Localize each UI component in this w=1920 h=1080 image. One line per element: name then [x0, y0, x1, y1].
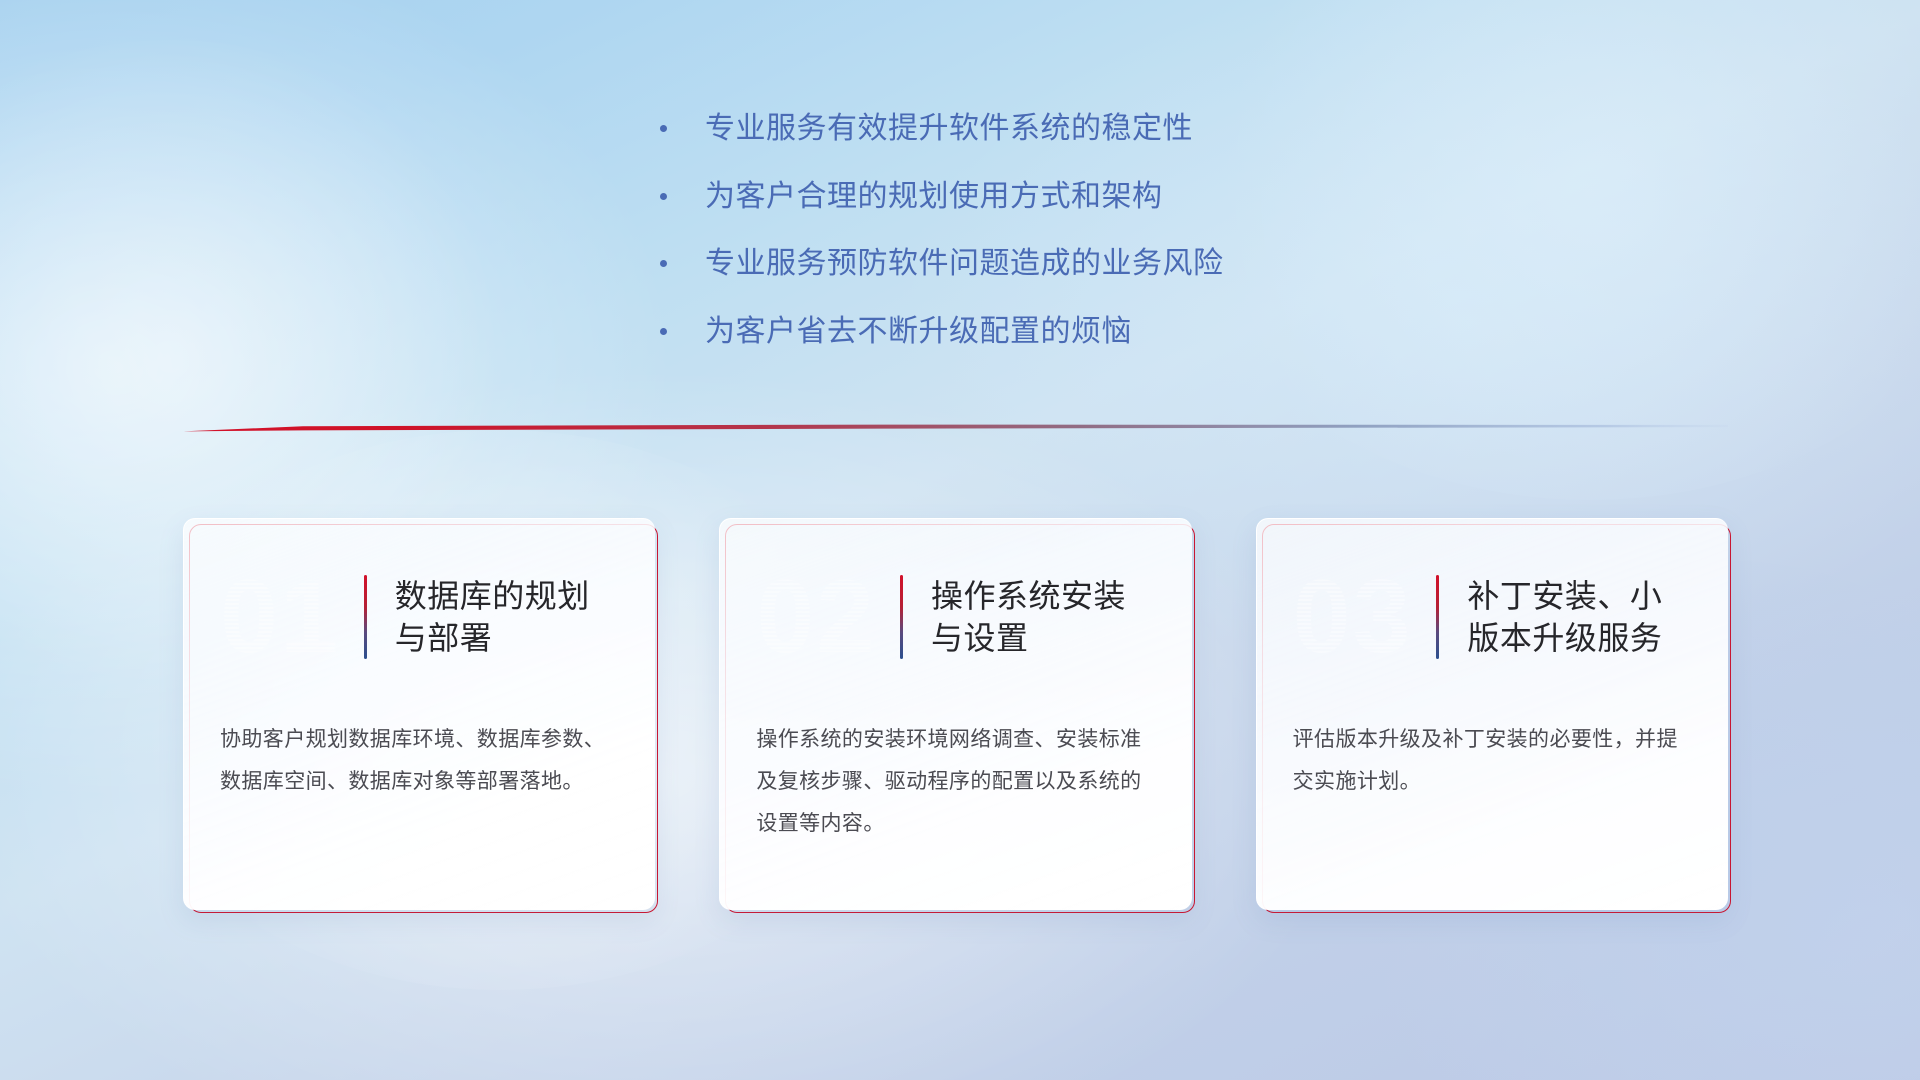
- card-title: 数据库的规划与部署: [395, 575, 620, 659]
- card-header: 02 操作系统安装与设置: [756, 553, 1155, 681]
- card-accent-divider: [1436, 575, 1439, 659]
- list-item: 专业服务预防软件问题造成的业务风险: [660, 245, 1560, 283]
- card-surface: 03 补丁安装、小版本升级服务 评估版本升级及补丁安装的必要性，并提交实施计划。: [1256, 518, 1728, 910]
- bullet-dot-icon: [660, 193, 667, 200]
- bullet-dot-icon: [660, 328, 667, 335]
- bullet-dot-icon: [660, 260, 667, 267]
- card-header: 03 补丁安装、小版本升级服务: [1293, 553, 1692, 681]
- slide-canvas: 专业服务有效提升软件系统的稳定性 为客户合理的规划使用方式和架构 专业服务预防软…: [0, 0, 1920, 1080]
- tapered-rule-icon: [183, 418, 1728, 438]
- section-divider: [183, 418, 1728, 438]
- card-description: 评估版本升级及补丁安装的必要性，并提交实施计划。: [1293, 719, 1692, 803]
- card-surface: 01 数据库的规划与部署 协助客户规划数据库环境、数据库参数、数据库空间、数据库…: [183, 518, 655, 910]
- bullet-text: 为客户合理的规划使用方式和架构: [705, 178, 1163, 216]
- bullet-text: 专业服务预防软件问题造成的业务风险: [705, 245, 1224, 283]
- card-number-watermark: 03: [1293, 565, 1413, 669]
- list-item: 为客户合理的规划使用方式和架构: [660, 178, 1560, 216]
- card-description: 操作系统的安装环境网络调查、安装标准及复核步骤、驱动程序的配置以及系统的设置等内…: [756, 719, 1155, 845]
- card-header: 01 数据库的规划与部署: [220, 553, 619, 681]
- service-card-03[interactable]: 03 补丁安装、小版本升级服务 评估版本升级及补丁安装的必要性，并提交实施计划。: [1256, 518, 1728, 910]
- benefits-bullet-list: 专业服务有效提升软件系统的稳定性 为客户合理的规划使用方式和架构 专业服务预防软…: [660, 110, 1560, 380]
- list-item: 专业服务有效提升软件系统的稳定性: [660, 110, 1560, 148]
- service-card-01[interactable]: 01 数据库的规划与部署 协助客户规划数据库环境、数据库参数、数据库空间、数据库…: [183, 518, 655, 910]
- card-accent-divider: [364, 575, 367, 659]
- list-item: 为客户省去不断升级配置的烦恼: [660, 313, 1560, 351]
- card-surface: 02 操作系统安装与设置 操作系统的安装环境网络调查、安装标准及复核步骤、驱动程…: [719, 518, 1191, 910]
- service-card-02[interactable]: 02 操作系统安装与设置 操作系统的安装环境网络调查、安装标准及复核步骤、驱动程…: [719, 518, 1191, 910]
- bullet-dot-icon: [660, 125, 667, 132]
- bullet-text: 为客户省去不断升级配置的烦恼: [705, 313, 1132, 351]
- card-accent-divider: [900, 575, 903, 659]
- bullet-text: 专业服务有效提升软件系统的稳定性: [705, 110, 1193, 148]
- card-number-watermark: 01: [220, 565, 340, 669]
- card-title: 补丁安装、小版本升级服务: [1467, 575, 1692, 659]
- card-title: 操作系统安装与设置: [931, 575, 1156, 659]
- card-number-watermark: 02: [756, 565, 876, 669]
- card-description: 协助客户规划数据库环境、数据库参数、数据库空间、数据库对象等部署落地。: [220, 719, 619, 803]
- service-card-row: 01 数据库的规划与部署 协助客户规划数据库环境、数据库参数、数据库空间、数据库…: [183, 518, 1728, 910]
